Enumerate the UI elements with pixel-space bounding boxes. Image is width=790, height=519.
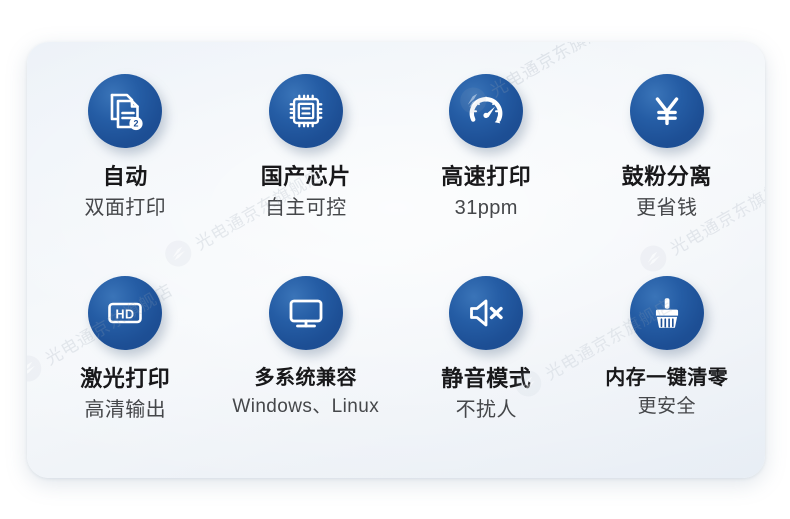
- feature-title: 自动: [103, 165, 148, 189]
- feature-grid: 2 自动 双面打印: [27, 42, 765, 478]
- feature-subtitle: 不扰人: [456, 399, 517, 421]
- feature-subtitle: 31ppm: [455, 197, 518, 219]
- feature-title: 内存一键清零: [605, 367, 728, 389]
- feature-item-quiet[interactable]: 静音模式 不扰人: [396, 262, 577, 464]
- feature-title: 多系统兼容: [255, 367, 358, 389]
- feature-item-laser[interactable]: HD 激光打印 高清输出: [35, 262, 216, 464]
- feature-card: 光电通京东旗舰店 光电通京东旗舰店 光电通京东旗舰店 光电通京东旗舰店 光电通京…: [27, 42, 765, 478]
- feature-item-toner[interactable]: 鼓粉分离 更省钱: [577, 60, 758, 262]
- duplex-printing-icon: 2: [88, 74, 162, 148]
- cpu-chip-icon: [269, 74, 343, 148]
- svg-text:HD: HD: [116, 307, 135, 321]
- svg-text:2: 2: [134, 119, 139, 129]
- feature-subtitle: 更安全: [638, 397, 696, 418]
- feature-subtitle: 双面打印: [84, 197, 166, 219]
- feature-title: 国产芯片: [261, 165, 351, 189]
- feature-title: 静音模式: [441, 367, 531, 391]
- speedometer-icon: [449, 74, 523, 148]
- speaker-mute-icon: [449, 276, 523, 350]
- feature-item-memory-clear[interactable]: 内存一键清零 更安全: [577, 262, 758, 464]
- feature-subtitle: 更省钱: [636, 197, 697, 219]
- feature-subtitle: 高清输出: [84, 399, 166, 421]
- feature-item-duplex[interactable]: 2 自动 双面打印: [35, 60, 216, 262]
- feature-subtitle: 自主可控: [265, 197, 347, 219]
- broom-clean-icon: [630, 276, 704, 350]
- desktop-monitor-icon: [269, 276, 343, 350]
- feature-title: 激光打印: [80, 367, 170, 391]
- feature-title: 鼓粉分离: [622, 165, 712, 189]
- feature-subtitle: Windows、Linux: [232, 397, 379, 418]
- hd-badge-icon: HD: [88, 276, 162, 350]
- feature-item-chip[interactable]: 国产芯片 自主可控: [216, 60, 397, 262]
- yuan-currency-icon: [630, 74, 704, 148]
- feature-item-speed[interactable]: 高速打印 31ppm: [396, 60, 577, 262]
- feature-title: 高速打印: [441, 165, 531, 189]
- feature-item-compatibility[interactable]: 多系统兼容 Windows、Linux: [216, 262, 397, 464]
